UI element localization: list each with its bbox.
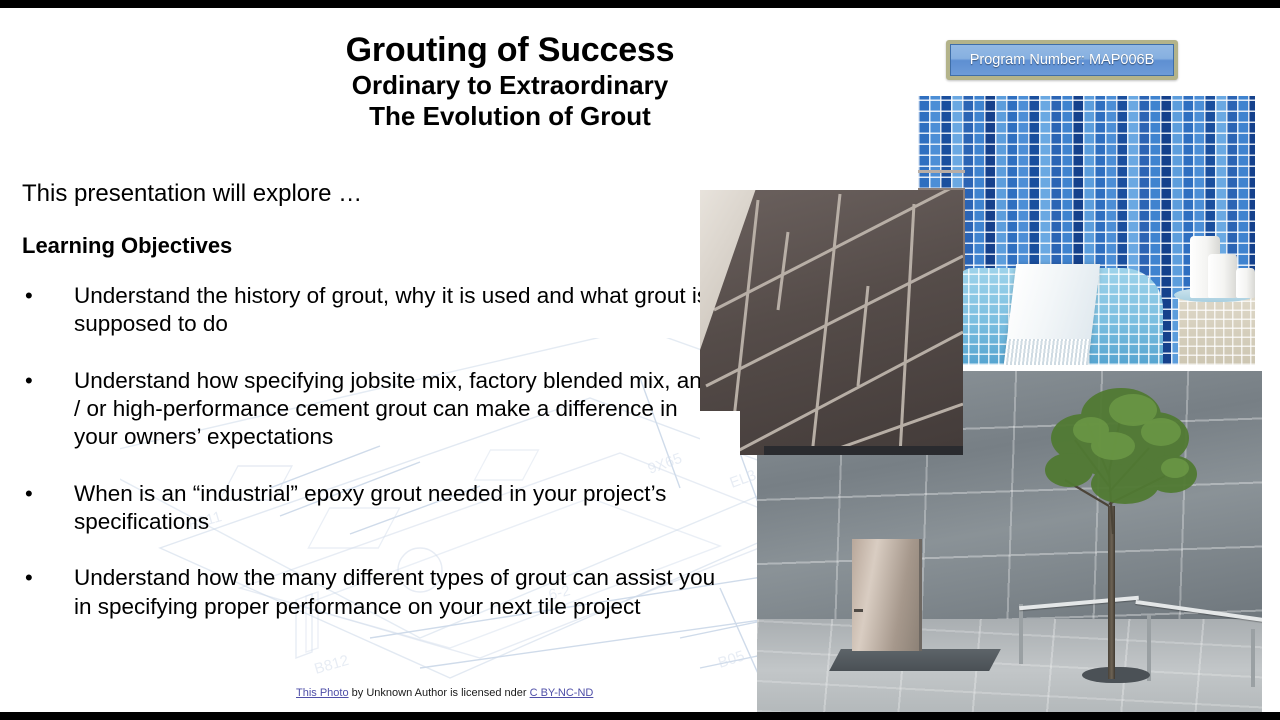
slide-title-block: Grouting of Success Ordinary to Extraord… — [130, 30, 890, 132]
towel-fringe — [1004, 339, 1091, 365]
door-mat — [829, 649, 1001, 671]
list-item-text: Understand how the many different types … — [74, 565, 715, 618]
bullet-glyph-icon: • — [25, 480, 33, 508]
subtitle-line-2: The Evolution of Grout — [130, 101, 890, 132]
list-item: • When is an “industrial” epoxy grout ne… — [22, 480, 722, 537]
attribution-middle-text: by Unknown Author is licensed nder — [349, 687, 530, 699]
white-towel — [1004, 264, 1100, 365]
slide-letterbox-frame: B811 B812 9X65 EL3 B05 5-0 6-2 Grouting … — [0, 0, 1280, 720]
presentation-slide: B811 B812 9X65 EL3 B05 5-0 6-2 Grouting … — [0, 8, 1280, 712]
intro-line: This presentation will explore … — [22, 180, 362, 208]
mosaic-pedestal — [1178, 296, 1255, 365]
list-item-text: When is an “industrial” epoxy grout need… — [74, 481, 666, 534]
mosaic-left-wall-grout-line — [918, 170, 965, 173]
tile-floor-photo — [700, 190, 963, 455]
program-number-badge: Program Number: MAP006B — [946, 40, 1178, 80]
this-photo-link[interactable]: This Photo — [296, 687, 349, 699]
tile-floor-dark-strip — [764, 446, 963, 455]
door-handle — [854, 609, 863, 612]
pillar-candle — [1236, 268, 1255, 298]
list-item: • Understand the history of grout, why i… — [22, 282, 722, 339]
handrail-post — [1251, 629, 1255, 687]
program-number-label: Program Number: MAP006B — [970, 52, 1155, 68]
tree-planting-bed — [1082, 667, 1150, 683]
svg-text:B812: B812 — [312, 652, 350, 678]
list-item-text: Understand how specifying jobsite mix, f… — [74, 368, 714, 450]
mosaic-spa-photo — [918, 96, 1255, 365]
svg-text:EL3: EL3 — [728, 467, 759, 492]
photo-attribution: This Photo by Unknown Author is licensed… — [296, 687, 593, 699]
svg-text:B05: B05 — [716, 647, 747, 671]
learning-objectives-list: • Understand the history of grout, why i… — [22, 282, 722, 649]
handrail-post — [1019, 604, 1023, 664]
list-item: • Understand how the many different type… — [22, 564, 722, 621]
bullet-glyph-icon: • — [25, 367, 33, 395]
list-item-text: Understand the history of grout, why it … — [74, 283, 708, 336]
stainless-steel-door — [852, 539, 922, 651]
tree-canopy — [1025, 376, 1205, 536]
tile-floor-white-corner — [700, 411, 740, 455]
bullet-glyph-icon: • — [25, 564, 33, 592]
page-title: Grouting of Success — [130, 30, 890, 70]
list-item: • Understand how specifying jobsite mix,… — [22, 367, 722, 452]
pillar-candle — [1208, 254, 1237, 298]
bullet-glyph-icon: • — [25, 282, 33, 310]
program-number-badge-fill: Program Number: MAP006B — [950, 44, 1174, 76]
subtitle-line-1: Ordinary to Extraordinary — [130, 70, 890, 101]
learning-objectives-heading: Learning Objectives — [22, 233, 232, 259]
license-link[interactable]: C BY-NC-ND — [530, 687, 594, 699]
